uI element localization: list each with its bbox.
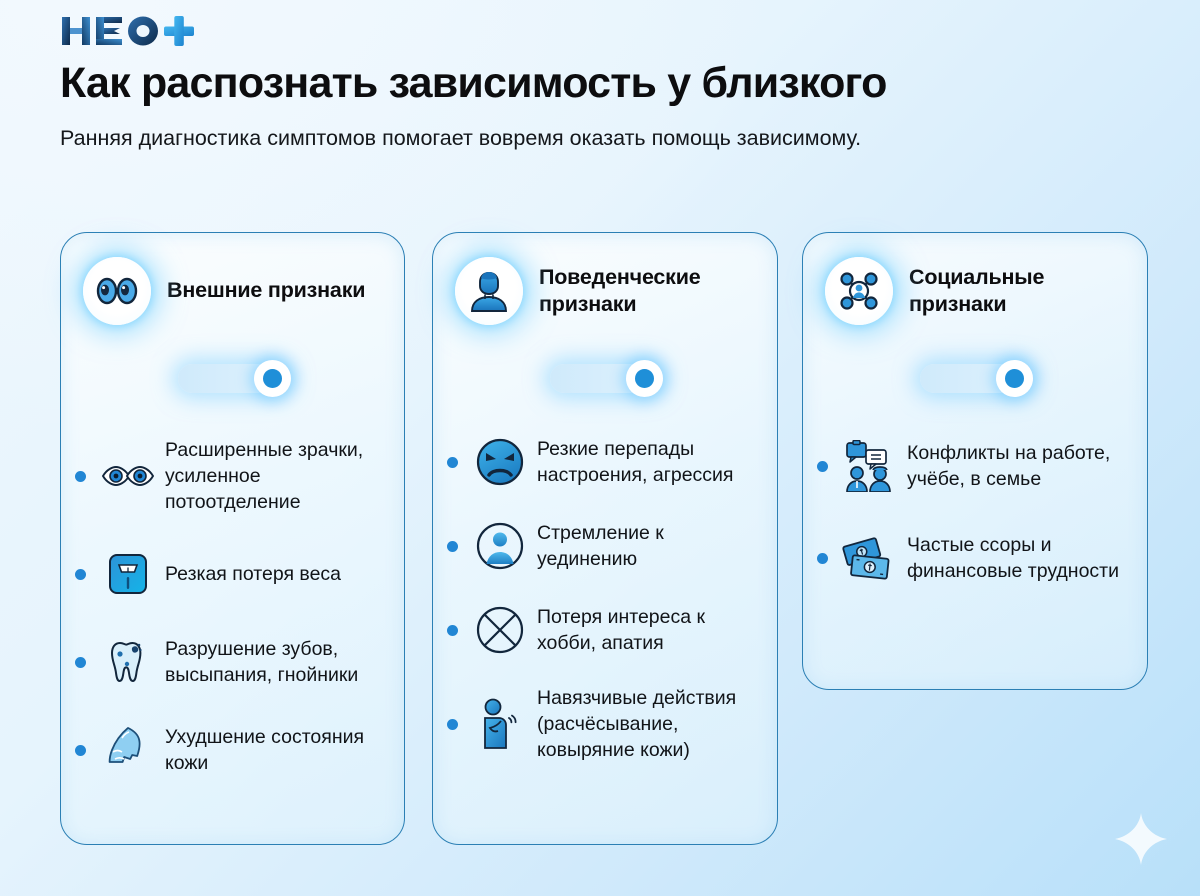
list-item-label: Ухудшение состояния кожи — [165, 724, 384, 776]
social-network-icon — [825, 257, 893, 325]
list-item-label: Потеря интереса к хобби, апатия — [537, 604, 757, 656]
angry-face-icon — [471, 433, 529, 491]
tooth-decay-icon — [99, 633, 157, 691]
list-item-label: Разрушение зубов, высыпания, гнойники — [165, 636, 384, 688]
toggle-switch-social[interactable] — [920, 364, 1030, 393]
list-item: Резкие перепады настроения, агрессия — [447, 433, 757, 491]
bullet-dot — [817, 461, 828, 472]
card-title: Внешние признаки — [167, 277, 365, 304]
people-conflict-icon — [841, 437, 899, 495]
sparkle-star-icon — [1114, 812, 1168, 866]
list-item-label: Резкая потеря веса — [165, 561, 341, 587]
card-external-signs: Внешние признаки — [60, 232, 405, 845]
bullet-dot — [447, 625, 458, 636]
signs-list: Расширенные зрачки, усиленное потоотделе… — [61, 393, 404, 779]
person-icon — [455, 257, 523, 325]
list-item-label: Стремление к уединению — [537, 520, 757, 572]
bullet-dot — [447, 457, 458, 468]
list-item-label: Навязчивые действия (расчёсывание, ковыр… — [537, 685, 757, 763]
person-circle-icon — [471, 517, 529, 575]
bullet-dot — [75, 569, 86, 580]
bullet-dot — [75, 745, 86, 756]
toggle-wrap — [803, 364, 1147, 393]
face-skin-icon — [99, 721, 157, 779]
list-item: Разрушение зубов, высыпания, гнойники — [75, 633, 384, 691]
toggle-switch-external[interactable] — [178, 364, 288, 393]
list-item: Ухудшение состояния кожи — [75, 721, 384, 779]
signs-list: Конфликты на работе, учёбе, в семье — [803, 393, 1147, 587]
list-item: Стремление к уединению — [447, 517, 757, 575]
eyes-icon — [83, 257, 151, 325]
list-item-label: Частые ссоры и финансовые трудности — [907, 532, 1127, 584]
card-title: Поведенческие признаки — [539, 264, 777, 318]
page-subtitle: Ранняя диагностика симптомов помогает во… — [60, 123, 960, 155]
card-header: Поведенческие признаки — [433, 233, 777, 325]
toggle-knob — [996, 360, 1033, 397]
banknotes-icon — [841, 529, 899, 587]
list-item: Расширенные зрачки, усиленное потоотделе… — [75, 437, 384, 515]
toggle-knob — [626, 360, 663, 397]
list-item-label: Расширенные зрачки, усиленное потоотделе… — [165, 437, 384, 515]
bullet-dot — [75, 657, 86, 668]
toggle-wrap — [433, 364, 777, 393]
list-item: Конфликты на работе, учёбе, в семье — [817, 437, 1127, 495]
signs-list: Резкие перепады настроения, агрессия — [433, 393, 777, 763]
page-header: Как распознать зависимость у близкого Ра… — [60, 14, 1150, 155]
card-behavioral-signs: Поведенческие признаки — [432, 232, 778, 845]
list-item: Частые ссоры и финансовые трудности — [817, 529, 1127, 587]
bullet-dot — [447, 719, 458, 730]
card-header: Внешние признаки — [61, 233, 404, 325]
brand-logo — [60, 14, 1150, 48]
list-item-label: Конфликты на работе, учёбе, в семье — [907, 440, 1127, 492]
card-title: Социальные признаки — [909, 264, 1147, 318]
scratching-person-icon — [471, 695, 529, 753]
toggle-switch-behavioral[interactable] — [550, 364, 660, 393]
crossed-circle-icon — [471, 601, 529, 659]
dilated-pupils-icon — [99, 447, 157, 505]
list-item-label: Резкие перепады настроения, агрессия — [537, 436, 757, 488]
list-item: Резкая потеря веса — [75, 545, 384, 603]
list-item: Потеря интереса к хобби, апатия — [447, 601, 757, 659]
card-social-signs: Социальные признаки — [802, 232, 1148, 690]
bullet-dot — [817, 553, 828, 564]
page-title: Как распознать зависимость у близкого — [60, 60, 1150, 106]
weight-scale-icon — [99, 545, 157, 603]
card-header: Социальные признаки — [803, 233, 1147, 325]
toggle-knob — [254, 360, 291, 397]
neo-plus-logo-icon — [60, 14, 200, 48]
list-item: Навязчивые действия (расчёсывание, ковыр… — [447, 685, 757, 763]
toggle-wrap — [61, 364, 404, 393]
bullet-dot — [75, 471, 86, 482]
bullet-dot — [447, 541, 458, 552]
